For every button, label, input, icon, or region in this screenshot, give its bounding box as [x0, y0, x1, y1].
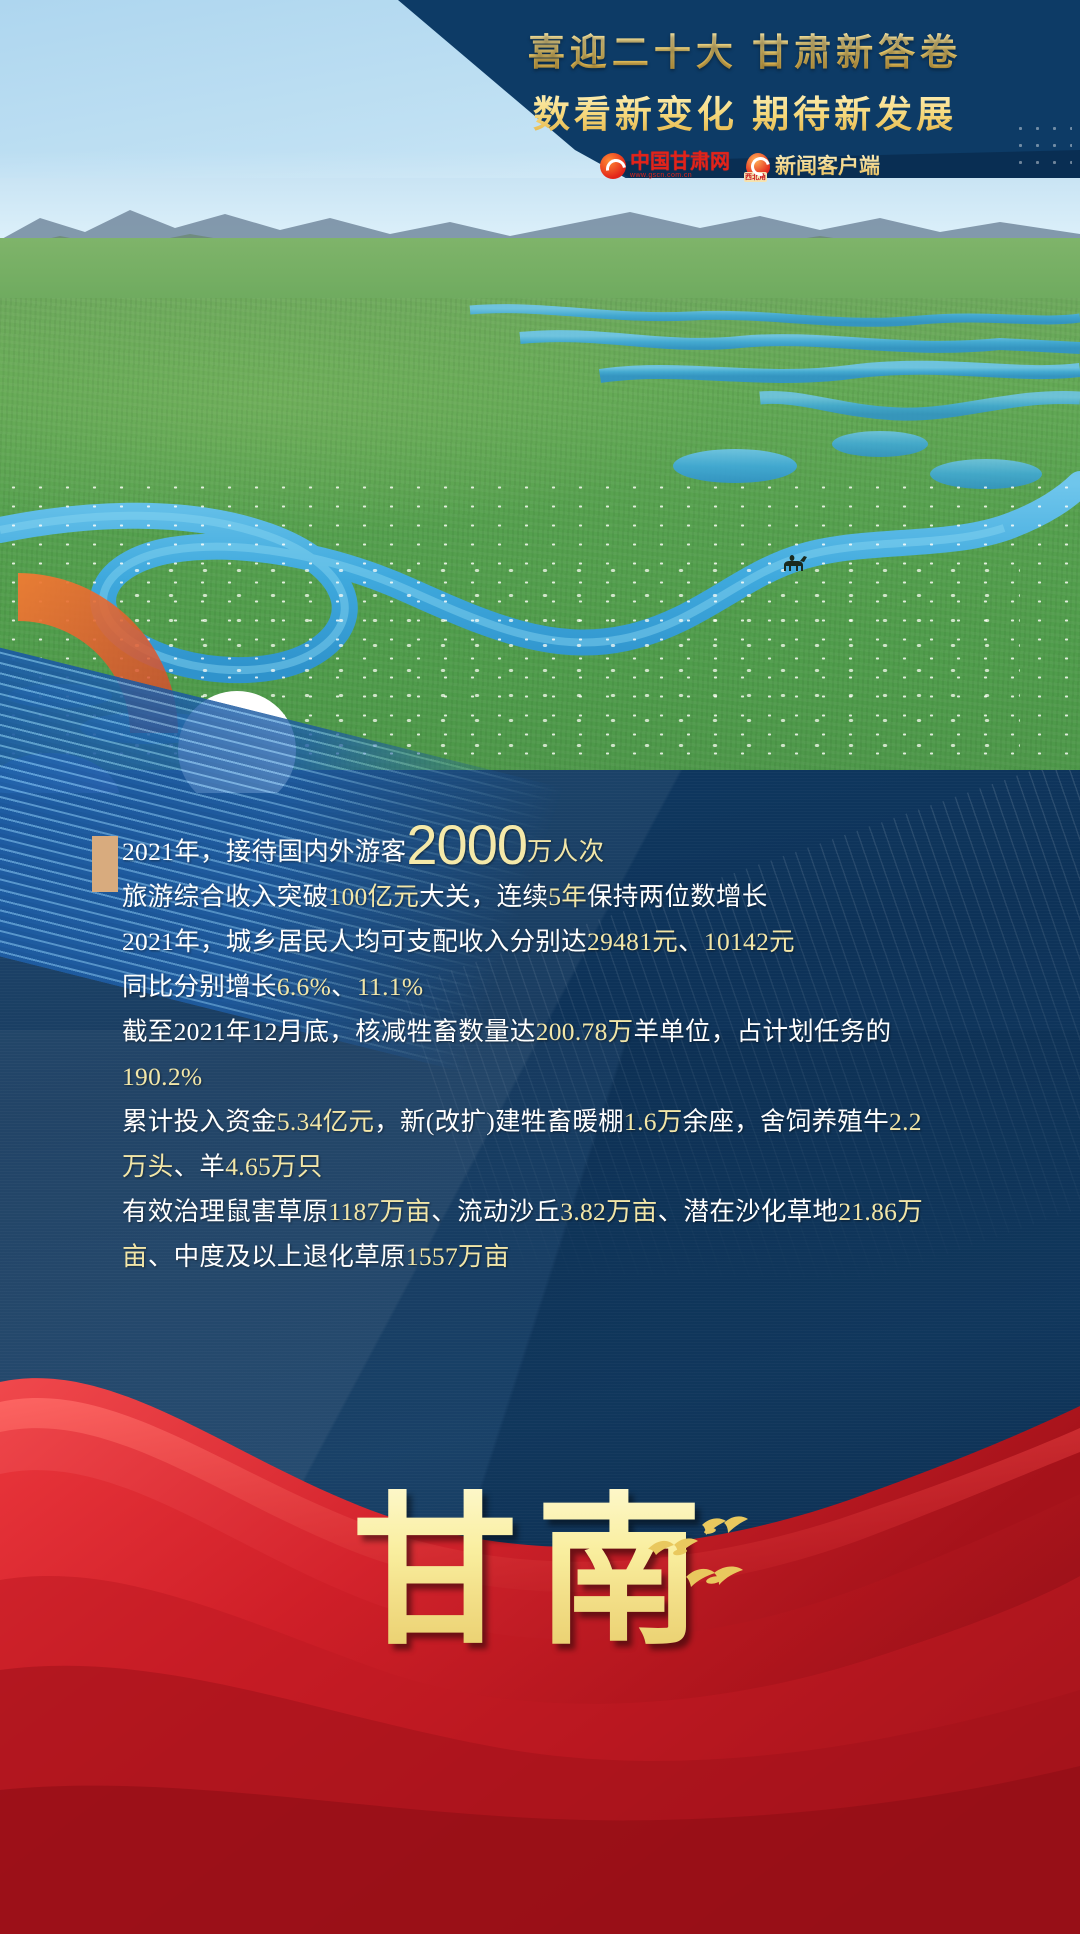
xibeijiao-badge-text: 西北角 [744, 172, 767, 182]
stats-value: 100亿元 [328, 882, 419, 911]
stats-label: ，新(改扩)建牲畜暖棚 [374, 1107, 624, 1136]
stats-label: 2021年，接待国内外游客 [122, 837, 406, 866]
stats-value: 5.34亿元 [277, 1107, 374, 1136]
tan-accent-bar [92, 836, 118, 892]
stats-label: 同比分别增长 [122, 972, 277, 1001]
header-title-group: 喜迎二十大 甘肃新答卷 数看新变化 期待新发展 [430, 22, 1060, 138]
news-app-logo-text: 新闻客户端 [775, 150, 880, 180]
stats-value: 200.78万 [536, 1017, 634, 1046]
xibeijiao-circle-logo-icon: 西北角 [746, 153, 770, 177]
stats-label: 大关，连续 [419, 882, 548, 911]
stats-label: 累计投入资金 [122, 1107, 277, 1136]
news-app-logo[interactable]: 西北角 新闻客户端 [746, 150, 880, 180]
stats-label: 、 [678, 927, 704, 956]
stats-line: 2021年，城乡居民人均可支配收入分别达29481元、10142元 [122, 919, 942, 964]
stats-label: 2021年，城乡居民人均可支配收入分别达 [122, 927, 587, 956]
stats-line: 旅游综合收入突破100亿元大关，连续5年保持两位数增长 [122, 874, 942, 919]
stats-label: 保持两位数增长 [587, 882, 768, 911]
stats-value: 10142元 [704, 927, 795, 956]
stats-value: 190.2% [122, 1062, 202, 1091]
stats-label: 羊单位，占计划任务的 [633, 1017, 891, 1046]
infographic-poster: 喜迎二十大 甘肃新答卷 数看新变化 期待新发展 中国甘肃网 www.gscn.c… [0, 0, 1080, 1934]
header-title-line1: 喜迎二十大 甘肃新答卷 [430, 22, 1060, 76]
gscn-logo-text: 中国甘肃网 [630, 152, 730, 172]
stats-label: 余座，舍饲养殖牛 [683, 1107, 889, 1136]
stats-value: 5年 [548, 882, 587, 911]
stats-label: 旅游综合收入突破 [122, 882, 328, 911]
gscn-circle-logo-icon [600, 153, 626, 179]
stats-value: 11.1% [357, 972, 423, 1001]
stats-line: 2021年，接待国内外游客2000万人次 [122, 822, 942, 874]
header-title-line2: 数看新变化 期待新发展 [430, 84, 1060, 138]
stats-value: 29481元 [587, 927, 678, 956]
gscn-logo[interactable]: 中国甘肃网 www.gscn.com.cn [600, 152, 730, 179]
stats-value: 万人次 [527, 837, 604, 866]
stats-line: 截至2021年12月底，核减牲畜数量达200.78万羊单位，占计划任务的190.… [122, 1009, 942, 1099]
stats-label: 截至2021年12月底，核减牲畜数量达 [122, 1017, 536, 1046]
header-logo-group: 中国甘肃网 www.gscn.com.cn 西北角 新闻客户端 [600, 148, 900, 182]
gscn-logo-url: www.gscn.com.cn [630, 172, 730, 179]
stats-value: 6.6% [277, 972, 331, 1001]
horse-rider-silhouette-icon [780, 553, 810, 577]
stats-line: 同比分别增长6.6%、11.1% [122, 964, 942, 1009]
flying-birds-decoration [640, 1515, 780, 1635]
highlight-number: 2000 [406, 813, 527, 876]
stats-label: 、 [331, 972, 357, 1001]
stats-value: 1.6万 [624, 1107, 683, 1136]
